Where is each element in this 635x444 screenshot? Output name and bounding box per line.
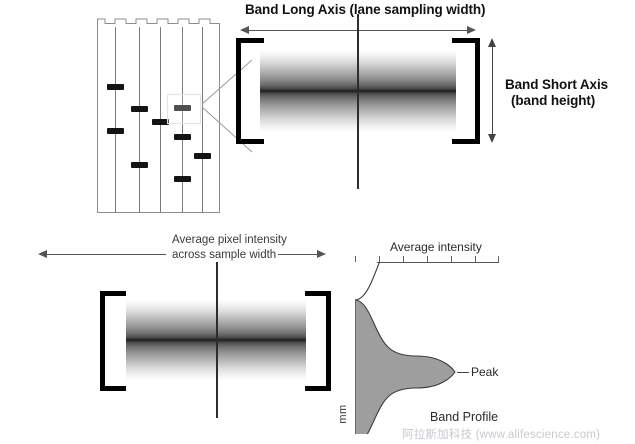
long-axis-arrow-right-icon	[467, 26, 476, 34]
band-profile-caption: Band Profile	[430, 410, 498, 424]
average-pixel-intensity-line1: Average pixel intensity	[172, 234, 287, 246]
sampling-center-line-top	[357, 14, 359, 189]
gel-band	[107, 128, 124, 134]
sampling-center-line-bottom	[216, 262, 218, 418]
lane-track-1	[115, 27, 116, 213]
sample-width-rule-right	[278, 254, 318, 255]
short-axis-arrow-up-icon	[488, 38, 496, 47]
short-axis-arrow-down-icon	[488, 134, 496, 143]
gel-band	[131, 162, 148, 168]
profile-y-unit-label: mm	[337, 402, 349, 426]
long-axis-rule	[248, 30, 470, 31]
average-pixel-intensity-line2: across sample width	[172, 249, 276, 261]
peak-label: Peak	[471, 365, 498, 379]
short-axis-rule	[492, 46, 493, 136]
profile-axis-title: Average intensity	[390, 240, 482, 254]
gel-band	[107, 84, 124, 90]
bracket-bottom-left	[100, 291, 126, 391]
gel-band	[174, 176, 191, 182]
sample-width-rule-left	[46, 254, 166, 255]
long-axis-arrow-left-icon	[240, 26, 249, 34]
bracket-bottom-right	[305, 291, 331, 391]
gel-band	[174, 134, 191, 140]
bracket-top-right	[452, 38, 480, 144]
sample-width-arrow-right-icon	[317, 250, 326, 258]
bracket-top-left	[236, 38, 264, 144]
band-short-axis-title-line2: (band height)	[511, 93, 595, 108]
sample-width-arrow-left-icon	[38, 250, 47, 258]
band-long-axis-title: Band Long Axis (lane sampling width)	[245, 2, 485, 17]
site-watermark: 阿拉斯加科技 (www.alifescience.com)	[402, 426, 600, 442]
figure-canvas: Band Long Axis (lane sampling width)	[0, 0, 635, 444]
gel-band	[131, 106, 148, 112]
peak-leader-line	[457, 372, 469, 373]
band-short-axis-title-line1: Band Short Axis	[505, 77, 608, 92]
band-profile-curve	[355, 262, 505, 434]
lane-track-2	[139, 27, 140, 213]
